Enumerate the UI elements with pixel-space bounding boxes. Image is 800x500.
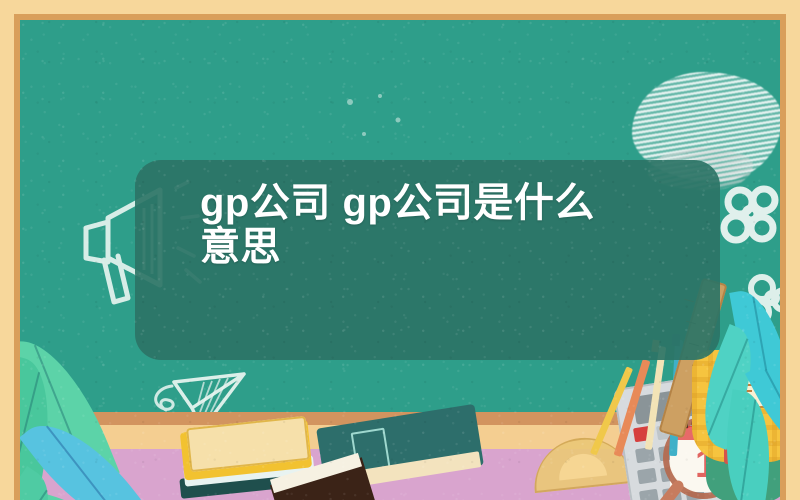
chalk-dots <box>340 90 410 150</box>
page-title: gp公司 gp公司是什么意思 <box>200 181 620 269</box>
flower-icon <box>710 178 780 258</box>
banner-image: 64 1 <box>0 0 800 500</box>
